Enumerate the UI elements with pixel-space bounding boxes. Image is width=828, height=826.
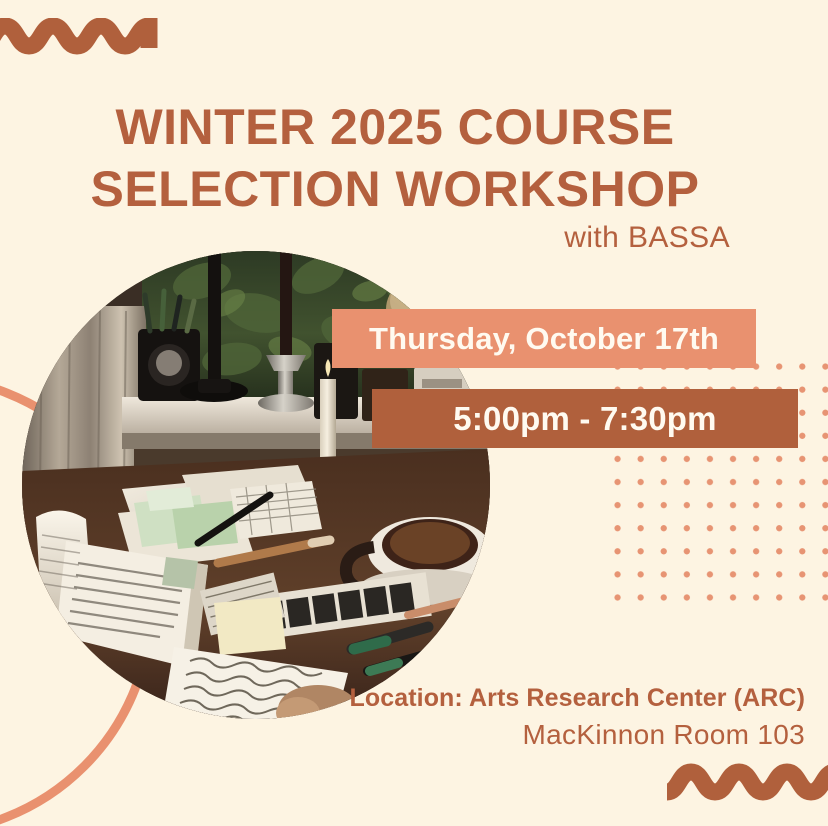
page-title: WINTER 2025 COURSE SELECTION WORKSHOP (40, 96, 750, 220)
subtitle: with BASSA (0, 221, 730, 255)
headline-line-1: WINTER 2025 COURSE (115, 99, 674, 155)
event-flyer: WINTER 2025 COURSE SELECTION WORKSHOP wi… (0, 0, 828, 826)
location-room: MacKinnon Room 103 (0, 719, 805, 751)
location-block: Location: Arts Research Center (ARC) Mac… (0, 684, 805, 751)
headline-line-2: SELECTION WORKSHOP (40, 158, 750, 220)
date-text: Thursday, October 17th (369, 321, 719, 357)
time-text: 5:00pm - 7:30pm (453, 400, 716, 438)
wave-bottom-right-icon (663, 762, 828, 808)
date-banner: Thursday, October 17th (332, 309, 756, 368)
location-venue: Location: Arts Research Center (ARC) (0, 684, 805, 713)
wave-top-left-icon (0, 18, 163, 64)
time-banner: 5:00pm - 7:30pm (372, 389, 798, 448)
